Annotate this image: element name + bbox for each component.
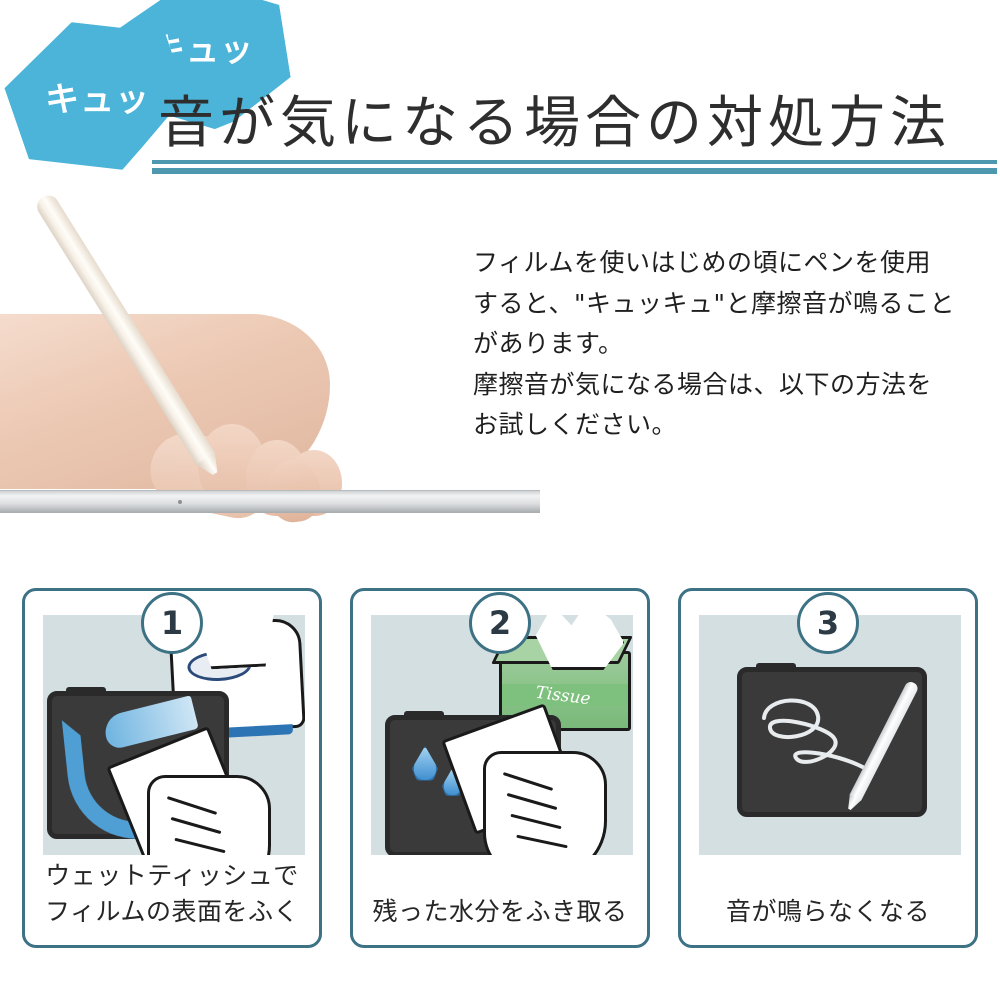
finger-line bbox=[516, 835, 567, 849]
finger-line bbox=[510, 814, 561, 829]
intro-paragraph: フィルムを使いはじめの頃にペンを使用 すると、"キュッキュ"と摩擦音が鳴ること … bbox=[473, 243, 985, 446]
finger-line bbox=[503, 772, 553, 791]
sound-bubble-front-label: キュッ bbox=[44, 72, 149, 121]
finger-line bbox=[171, 817, 222, 834]
hand-icon bbox=[147, 775, 271, 855]
tablet-device-icon bbox=[737, 667, 927, 817]
step-card-2: 2 Tissue bbox=[350, 588, 650, 948]
page-header: キュッ キュッ 音が気になる場合の対処方法 bbox=[0, 0, 1000, 190]
step-number-badge-1: 1 bbox=[141, 592, 203, 654]
tablet-edge-bar bbox=[0, 490, 540, 513]
title-divider bbox=[152, 160, 997, 174]
step-caption-3: 音が鳴らなくなる bbox=[681, 894, 975, 930]
step-card-1: 1 ウェットティッシュで フィルムの表面をふく bbox=[22, 588, 322, 948]
step-number-badge-2: 2 bbox=[469, 592, 531, 654]
step-caption-2: 残った水分をふき取る bbox=[353, 894, 647, 930]
promo-page: キュッ キュッ 音が気になる場合の対処方法 フィルムを使い bbox=[0, 0, 1000, 1000]
finger-line bbox=[507, 793, 558, 810]
page-title: 音が気になる場合の対処方法 bbox=[158, 78, 951, 159]
hand-icon bbox=[483, 751, 607, 855]
finger-line bbox=[167, 796, 217, 815]
step-caption-1: ウェットティッシュで フィルムの表面をふく bbox=[25, 858, 319, 929]
finger-line bbox=[174, 838, 225, 853]
divider-line-bottom bbox=[152, 168, 997, 174]
hero-section: フィルムを使いはじめの頃にペンを使用 すると、"キュッキュ"と摩擦音が鳴ること … bbox=[0, 188, 1000, 528]
step-card-3: 3 音が鳴らなくなる bbox=[678, 588, 978, 948]
water-drop-icon bbox=[412, 746, 438, 782]
steps-section: 1 ウェットティッシュで フィルムの表面をふく bbox=[0, 556, 1000, 956]
step-number-badge-3: 3 bbox=[797, 592, 859, 654]
hand-stylus-photo bbox=[0, 188, 470, 518]
